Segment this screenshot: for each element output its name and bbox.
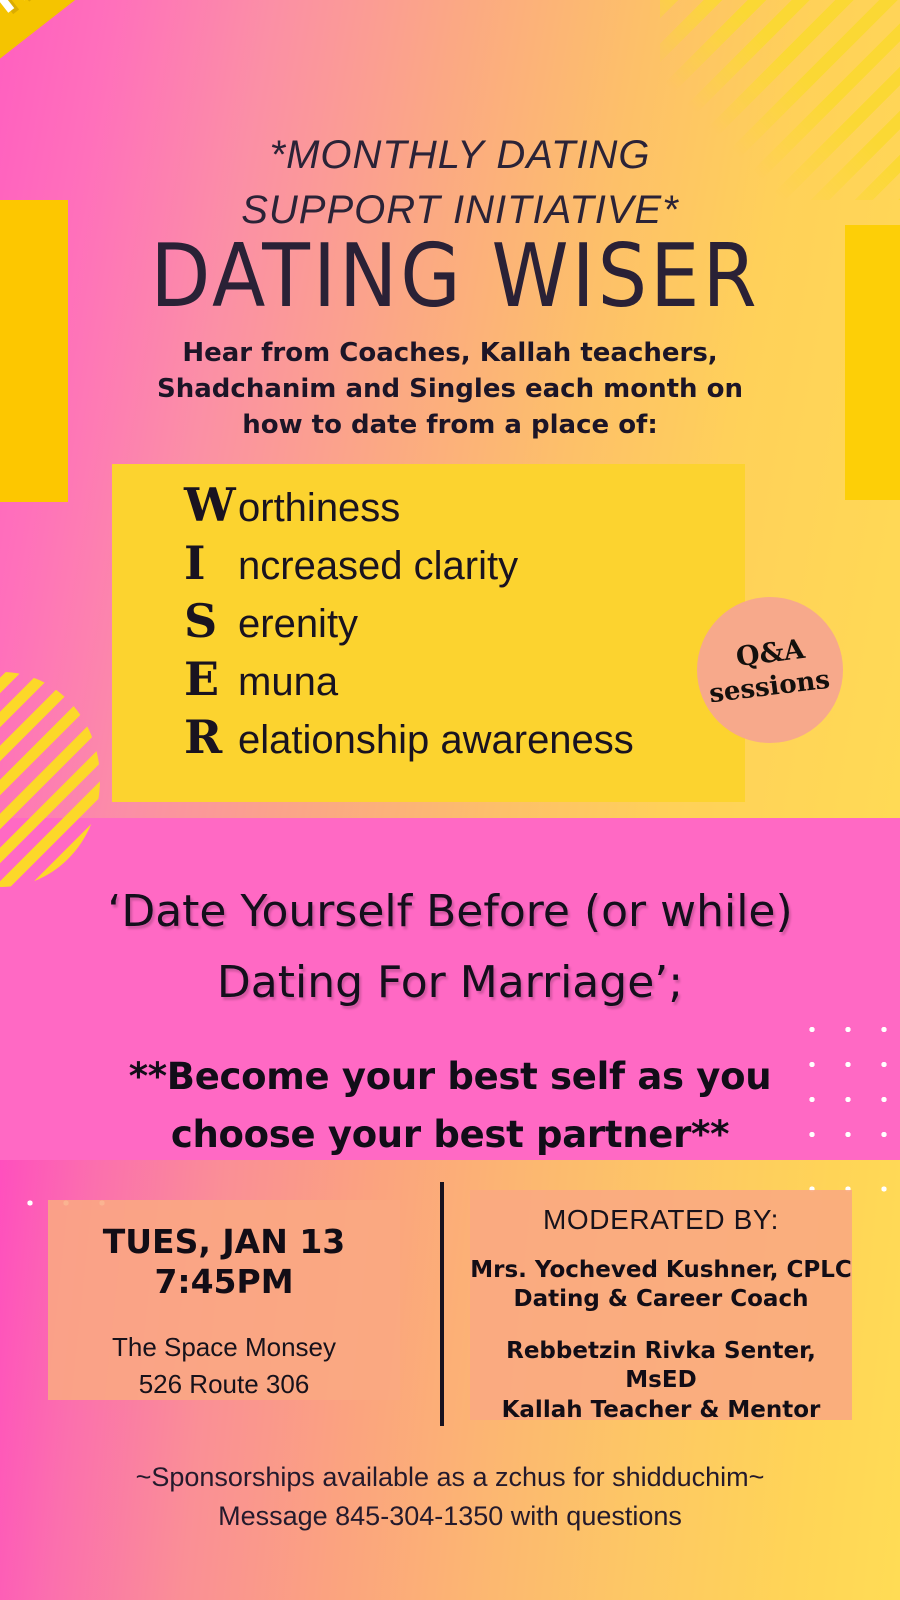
wiser-initial: S — [184, 598, 242, 644]
event-when-panel: TUES, JAN 13 7:45PM The Space Monsey 526… — [48, 1200, 400, 1400]
wiser-word: ncreased clarity — [238, 546, 518, 586]
script-tagline: ‘Date Yourself Before (or while) Dating … — [60, 876, 840, 1019]
wiser-initial: R — [184, 714, 242, 760]
event-venue: The Space Monsey 526 Route 306 — [112, 1329, 336, 1402]
event-time: 7:45PM — [154, 1262, 293, 1302]
moderator-entry: Rebbetzin Rivka Senter, MsED Kallah Teac… — [470, 1337, 852, 1425]
wiser-word: erenity — [238, 604, 358, 644]
wiser-item: W orthiness — [112, 482, 745, 540]
wiser-list: W orthiness I ncreased clarity S erenity… — [112, 482, 745, 772]
yellow-rectangle-left — [0, 200, 68, 502]
moderator-entry: Mrs. Yocheved Kushner, CPLC Dating & Car… — [470, 1256, 852, 1315]
moderators-panel: MODERATED BY: Mrs. Yocheved Kushner, CPL… — [470, 1190, 852, 1420]
wiser-word: orthiness — [238, 488, 400, 528]
qa-badge-line-2: sessions — [708, 664, 832, 709]
wiser-initial: I — [184, 540, 242, 586]
moderated-by-label: MODERATED BY: — [543, 1204, 779, 1236]
wiser-item: S erenity — [112, 598, 745, 656]
event-date: TUES, JAN 13 — [103, 1222, 346, 1262]
footer-note: ~Sponsorships available as a zchus for s… — [60, 1458, 840, 1536]
wiser-word: elationship awareness — [238, 720, 634, 760]
kicker-text: *MONTHLY DATING SUPPORT INITIATIVE* — [150, 128, 770, 238]
wiser-initial: W — [184, 482, 242, 528]
wiser-initial: E — [184, 656, 242, 702]
wiser-acrostic-box: W orthiness I ncreased clarity S erenity… — [112, 464, 745, 802]
bold-tagline: **Become your best self as you choose yo… — [70, 1048, 830, 1163]
qa-sessions-badge: Q&A sessions — [697, 597, 843, 743]
wiser-item: R elationship awareness — [112, 714, 745, 772]
flyer-canvas: Now at ‘The Space’ *MONTHLY DATING SUPPO… — [0, 0, 900, 1600]
lede-text: Hear from Coaches, Kallah teachers, Shad… — [120, 336, 780, 444]
wiser-word: muna — [238, 662, 338, 702]
wiser-item: E muna — [112, 656, 745, 714]
page-title: DATING WISER — [60, 233, 850, 320]
yellow-rectangle-right — [845, 225, 900, 500]
wiser-item: I ncreased clarity — [112, 540, 745, 598]
vertical-divider — [440, 1182, 444, 1426]
